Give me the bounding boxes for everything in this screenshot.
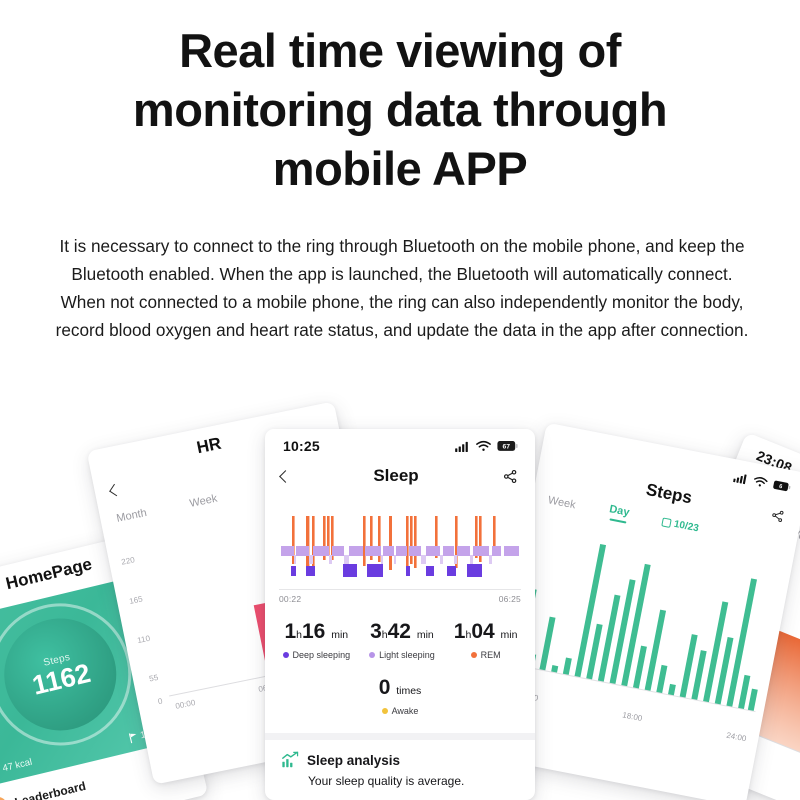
page-title: Real time viewing of monitoring data thr…: [60, 22, 740, 198]
stat-light-legend: Light sleeping: [369, 650, 435, 660]
svg-text:165: 165: [129, 594, 144, 606]
sleep-axis-end: 06:25: [499, 594, 521, 604]
sleep-analysis-subtitle: Your sleep quality is average.: [308, 774, 519, 788]
steps-chart: 12:00 18:00 24:00: [508, 517, 784, 733]
sleep-status-time: 10:25: [283, 438, 320, 454]
steps-tab-day[interactable]: Day: [607, 503, 630, 524]
sleep-time-axis: 00:22 06:25: [279, 589, 521, 604]
calories-value: 47 kcal: [1, 757, 33, 775]
svg-text:55: 55: [148, 673, 159, 684]
phone-card-sleep[interactable]: 10:25 6: [265, 429, 535, 800]
stat-awake: 0 times Awake: [265, 676, 535, 716]
hr-tab-month[interactable]: Month: [115, 507, 147, 525]
sleep-nav-title: Sleep: [373, 466, 418, 486]
steps-date-chip[interactable]: 10/23: [661, 516, 699, 534]
stat-awake-value: 0 times: [265, 676, 535, 700]
steps-tab-week[interactable]: Week: [547, 494, 577, 511]
page-root: Real time viewing of monitoring data thr…: [0, 0, 800, 800]
stat-light-value: 3h42 min: [369, 620, 435, 644]
sleep-analysis-title: Sleep analysis: [307, 753, 400, 768]
cellular-signal-icon: [733, 471, 749, 484]
sleep-analysis-header: Sleep analysis: [281, 751, 519, 769]
svg-text:00:00: 00:00: [175, 698, 197, 711]
hr-back-icon[interactable]: [109, 484, 121, 496]
hr-nav-title: HR: [195, 434, 223, 458]
section-divider: [265, 733, 535, 740]
battery-level-text: 67: [503, 444, 511, 451]
awake-dot-icon: [382, 708, 388, 714]
flame-icon: [0, 764, 1, 777]
stat-awake-legend: Awake: [265, 706, 535, 716]
calories-stat: 47 kcal: [0, 757, 33, 778]
sleep-stat-row: 1h16 min Deep sleeping 3h42 min Light sl…: [265, 620, 535, 660]
ring-value: 1162: [30, 659, 94, 702]
sleep-analysis-section[interactable]: Sleep analysis Your sleep quality is ave…: [265, 740, 535, 788]
wifi-icon: [753, 475, 769, 488]
svg-text:110: 110: [136, 634, 151, 645]
light-sleep-dot-icon: [369, 652, 375, 658]
stat-deep-sleeping: 1h16 min Deep sleeping: [283, 620, 351, 660]
sleep-status-bar: 10:25 6: [265, 429, 535, 456]
stat-deep-legend: Deep sleeping: [283, 650, 351, 660]
sleep-nav-bar: Sleep: [265, 456, 535, 494]
sleep-hypnogram-chart: [279, 508, 521, 584]
sleep-back-icon[interactable]: [279, 470, 292, 483]
stat-rem-value: 1h04 min: [454, 620, 518, 644]
sleep-axis-start: 00:22: [279, 594, 301, 604]
svg-text:220: 220: [121, 555, 136, 567]
page-description: It is necessary to connect to the ring t…: [52, 233, 752, 344]
hr-tab-week[interactable]: Week: [189, 493, 219, 510]
stat-rem-legend: REM: [454, 650, 518, 660]
flag-icon: [127, 731, 138, 744]
sleep-share-icon[interactable]: [502, 468, 519, 485]
stat-light-sleeping: 3h42 min Light sleeping: [369, 620, 435, 660]
phone-screenshot-stack: 23:08 Sp Month Week D: [0, 415, 800, 800]
stat-rem: 1h04 min REM: [454, 620, 518, 660]
steps-nav-title: Steps: [644, 480, 693, 508]
sleep-status-icons: 67: [455, 440, 519, 452]
wifi-icon: [476, 440, 491, 452]
steps-share-icon[interactable]: [769, 507, 787, 525]
svg-text:0: 0: [157, 696, 164, 706]
stat-deep-value: 1h16 min: [283, 620, 351, 644]
bar-chart-trend-icon: [281, 751, 299, 769]
leaderboard-label: Leaderboard: [13, 779, 87, 800]
leaderboard-avatar-icon: [0, 795, 9, 800]
battery-icon: 6: [772, 478, 792, 492]
sleep-hypnogram-svg: [279, 508, 521, 584]
cellular-signal-icon: [455, 441, 470, 452]
steps-date-label: 10/23: [673, 519, 700, 535]
rem-dot-icon: [471, 652, 477, 658]
calendar-icon: [661, 517, 672, 528]
battery-icon: 67: [497, 440, 519, 452]
deep-sleep-dot-icon: [283, 652, 289, 658]
